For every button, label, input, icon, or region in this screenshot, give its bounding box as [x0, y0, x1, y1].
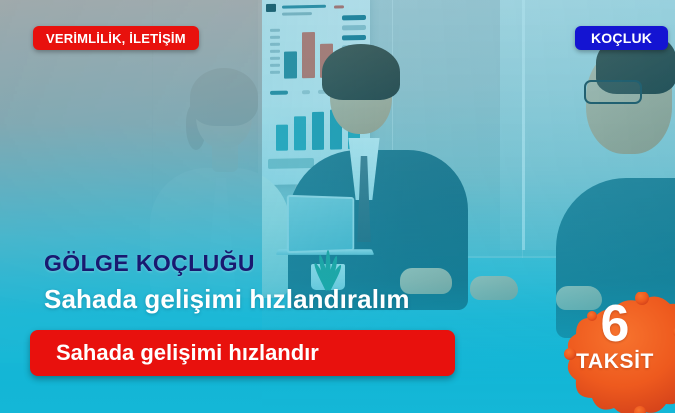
- promo-banner: VERİMLİLİK, İLETİŞİM KOÇLUK GÖLGE KOÇLUĞ…: [0, 0, 675, 413]
- kicker-text: GÖLGE KOÇLUĞU: [44, 250, 255, 277]
- installment-count: 6: [556, 296, 674, 352]
- category-badge[interactable]: KOÇLUK: [575, 26, 668, 50]
- headline-text: Sahada gelişimi hızlandıralım: [44, 284, 410, 315]
- installment-badge[interactable]: 6 TAKSİT: [556, 292, 675, 413]
- cta-button[interactable]: Sahada gelişimi hızlandır: [30, 330, 455, 376]
- topic-badge[interactable]: VERİMLİLİK, İLETİŞİM: [33, 26, 199, 50]
- installment-label: TAKSİT: [556, 350, 674, 374]
